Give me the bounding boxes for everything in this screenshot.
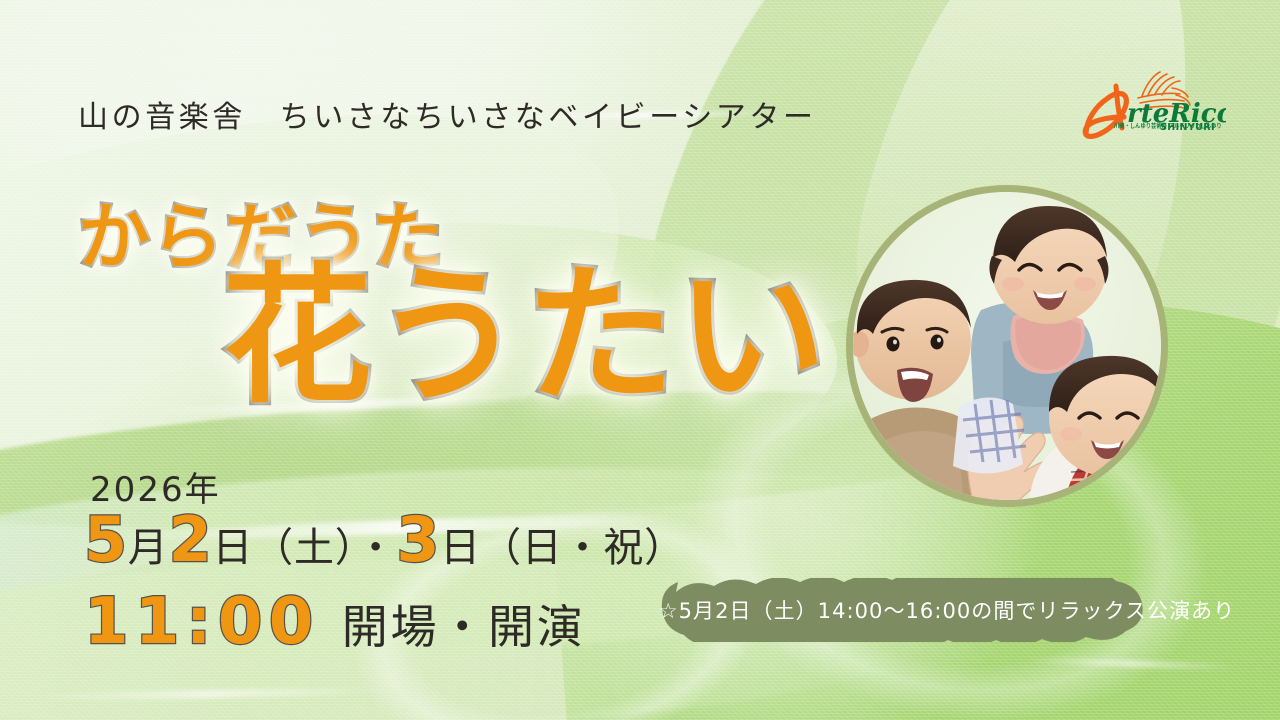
poster-canvas: 山の音楽舎 ちいさなちいさなベイビーシアター rteRicca SHINYUR <box>0 0 1280 720</box>
photo-illustration <box>853 192 1161 500</box>
month-number: 5 <box>84 503 128 576</box>
day2-kanji: 日 <box>440 525 481 571</box>
date-separator: ・ <box>356 525 397 571</box>
photo-ring-border <box>846 185 1168 507</box>
background-streak-1 <box>30 687 390 701</box>
time-line: 11:00開場・開演 <box>84 585 586 659</box>
arte-ricca-logo: rteRicca SHINYURI 川崎・しんゆり芸術祭 アルテリッカしんゆり <box>1076 62 1226 146</box>
day1-number: 2 <box>169 503 213 576</box>
background-streak-2 <box>1020 656 1240 671</box>
start-time: 11:00 <box>84 585 320 659</box>
day2-weekday: （日・祝） <box>481 525 685 571</box>
relax-performance-text: ☆5月2日（土）14:00〜16:00の間でリラックス公演あり <box>640 578 1254 642</box>
month-kanji: 月 <box>128 525 169 571</box>
relax-performance-badge: ☆5月2日（土）14:00〜16:00の間でリラックス公演あり <box>640 578 1254 642</box>
day1-weekday: （土） <box>253 525 355 571</box>
logo-graphic: rteRicca SHINYURI <box>1076 62 1226 146</box>
logo-subtitle: 川崎・しんゆり芸術祭 アルテリッカしんゆり <box>1114 122 1222 130</box>
date-line: 5月2日（土）・3日（日・祝） <box>84 503 685 576</box>
organizer-line: 山の音楽舎 ちいさなちいさなベイビーシアター <box>78 92 817 136</box>
day1-kanji: 日 <box>212 525 253 571</box>
time-label: 開場・開演 <box>342 600 586 654</box>
photo-image <box>853 192 1161 500</box>
main-title-hanautai: 花うたい <box>222 262 828 412</box>
babies-photo <box>846 185 1168 507</box>
day2-number: 3 <box>396 503 440 576</box>
